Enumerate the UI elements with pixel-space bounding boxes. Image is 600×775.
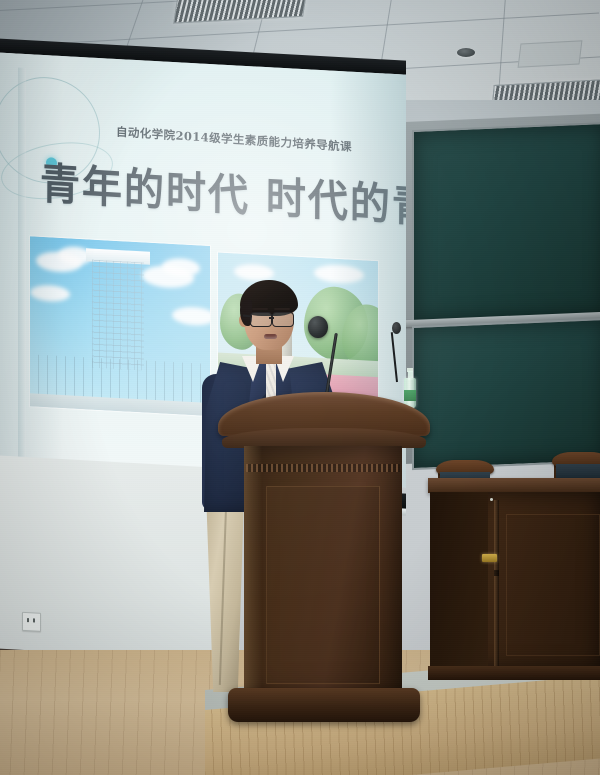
speaker-mouth bbox=[264, 334, 277, 339]
desk-left-face bbox=[430, 492, 488, 670]
ceiling-vent-panel bbox=[518, 40, 583, 67]
slide-subtitle: 自动化学院2014级学生素质能力培养导航课 bbox=[116, 124, 366, 156]
lectern-front-lip bbox=[222, 428, 426, 448]
desk-groove bbox=[494, 570, 499, 576]
desk-top-surface bbox=[428, 478, 600, 493]
microphone-head bbox=[392, 322, 401, 334]
building-tower bbox=[92, 260, 144, 371]
microphone-head bbox=[308, 316, 328, 338]
lectern-inset-panel bbox=[266, 486, 380, 684]
power-outlet-icon bbox=[22, 612, 41, 632]
glasses-bridge bbox=[269, 317, 274, 319]
slide-photo-campus-building bbox=[30, 236, 210, 416]
lecture-hall-photo: 自动化学院2014级学生素质能力培养导航课 青年的时代 时代的青年 bbox=[0, 0, 600, 775]
desk-groove bbox=[494, 500, 499, 666]
slide-title: 青年的时代 时代的青年 bbox=[40, 149, 400, 234]
chalkboard-upper-panel bbox=[412, 122, 600, 324]
wooden-chair bbox=[552, 452, 600, 478]
desk-base-plinth bbox=[428, 666, 600, 680]
side-desk bbox=[428, 478, 600, 688]
lectern-base-plinth bbox=[228, 688, 420, 722]
desk-screw bbox=[490, 498, 493, 501]
chalkboard-lower-panel bbox=[412, 318, 600, 470]
main-lectern bbox=[218, 392, 430, 730]
screen-fold-highlight bbox=[18, 68, 26, 481]
lectern-decorative-band bbox=[246, 464, 400, 472]
desk-inset-panel bbox=[506, 514, 600, 656]
glasses-icon bbox=[272, 312, 294, 327]
lectern-edge-highlight bbox=[244, 446, 262, 698]
glasses-icon bbox=[250, 312, 272, 327]
ceiling-speaker-icon bbox=[457, 48, 475, 57]
desk-nameplate bbox=[482, 554, 497, 562]
